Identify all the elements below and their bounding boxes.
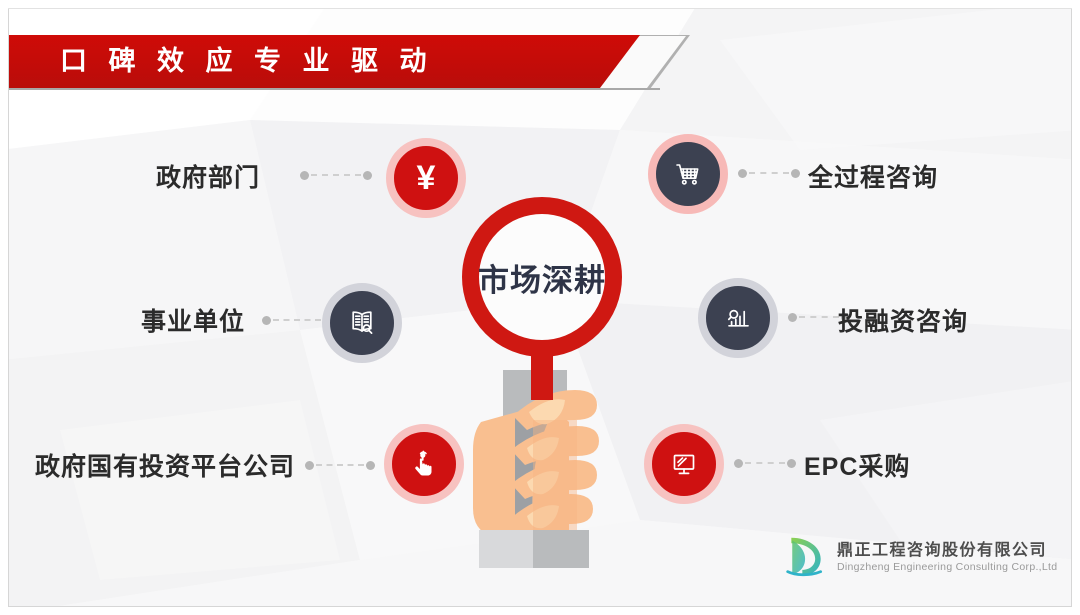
node-investment-financing-consulting[interactable]	[698, 278, 778, 358]
banner-underline	[0, 88, 660, 90]
hand-illustration	[455, 370, 665, 580]
label-epc-procurement: EPC采购	[804, 447, 910, 483]
label-investment-financing-consulting: 投融资咨询	[838, 302, 968, 338]
connector-left-3	[305, 460, 375, 470]
connector-dot	[738, 169, 747, 178]
hand-click-icon	[408, 448, 440, 480]
yen-icon: ¥	[417, 161, 436, 195]
label-public-institution: 事业单位	[40, 302, 245, 338]
logo-text-block: 鼎正工程咨询股份有限公司 Dingzheng Engineering Consu…	[837, 541, 1057, 574]
magnifier-handle	[531, 352, 553, 400]
node-public-institution[interactable]	[322, 283, 402, 363]
connector-dash	[745, 462, 785, 464]
connector-right-3	[734, 458, 796, 468]
monitor-icon	[668, 448, 700, 480]
banner-title: 口 碑 效 应 专 业 驱 动	[60, 35, 434, 88]
connector-dash	[273, 319, 321, 321]
slide-frame-bottom	[0, 607, 1080, 615]
slide-border-top	[8, 8, 1072, 9]
connector-dot	[363, 171, 372, 180]
connector-left-1	[300, 170, 372, 180]
slide-canvas: 口 碑 效 应 专 业 驱 动 政府部门 ¥ 事业单位	[0, 0, 1080, 615]
connector-dash	[311, 174, 361, 176]
connector-dash	[749, 172, 789, 174]
connector-dot	[787, 459, 796, 468]
connector-dot	[366, 461, 375, 470]
company-logo: 鼎正工程咨询股份有限公司 Dingzheng Engineering Consu…	[784, 534, 1057, 580]
slide-frame-right	[1072, 0, 1080, 615]
connector-right-1	[738, 168, 800, 178]
node-government-department[interactable]: ¥	[386, 138, 466, 218]
label-state-investment-platform: 政府国有投资平台公司	[20, 447, 295, 483]
label-government-department: 政府部门	[40, 158, 260, 194]
book-search-icon	[344, 305, 380, 341]
slide-frame-left	[0, 0, 8, 615]
dingzheng-logo-mark-icon	[784, 534, 828, 580]
header-banner: 口 碑 效 应 专 业 驱 动	[0, 35, 700, 91]
slide-frame-top	[0, 0, 1080, 8]
slide-border-right	[1071, 8, 1072, 607]
node-full-process-consulting[interactable]	[648, 134, 728, 214]
bar-chart-search-icon	[721, 301, 755, 335]
slide-border-bottom	[8, 606, 1072, 607]
center-title: 市场深耕	[462, 197, 622, 357]
connector-dot	[788, 313, 797, 322]
logo-company-name-cn: 鼎正工程咨询股份有限公司	[837, 541, 1057, 560]
connector-dash	[799, 316, 839, 318]
node-epc-procurement[interactable]	[644, 424, 724, 504]
logo-company-name-en: Dingzheng Engineering Consulting Corp.,L…	[837, 560, 1057, 574]
node-state-investment-platform[interactable]	[384, 424, 464, 504]
connector-dot	[262, 316, 271, 325]
shopping-cart-icon	[671, 157, 705, 191]
label-full-process-consulting: 全过程咨询	[808, 158, 938, 194]
connector-dot	[734, 459, 743, 468]
connector-dash	[316, 464, 364, 466]
connector-dot	[305, 461, 314, 470]
slide-border-left	[8, 8, 9, 607]
connector-dot	[300, 171, 309, 180]
connector-dot	[791, 169, 800, 178]
